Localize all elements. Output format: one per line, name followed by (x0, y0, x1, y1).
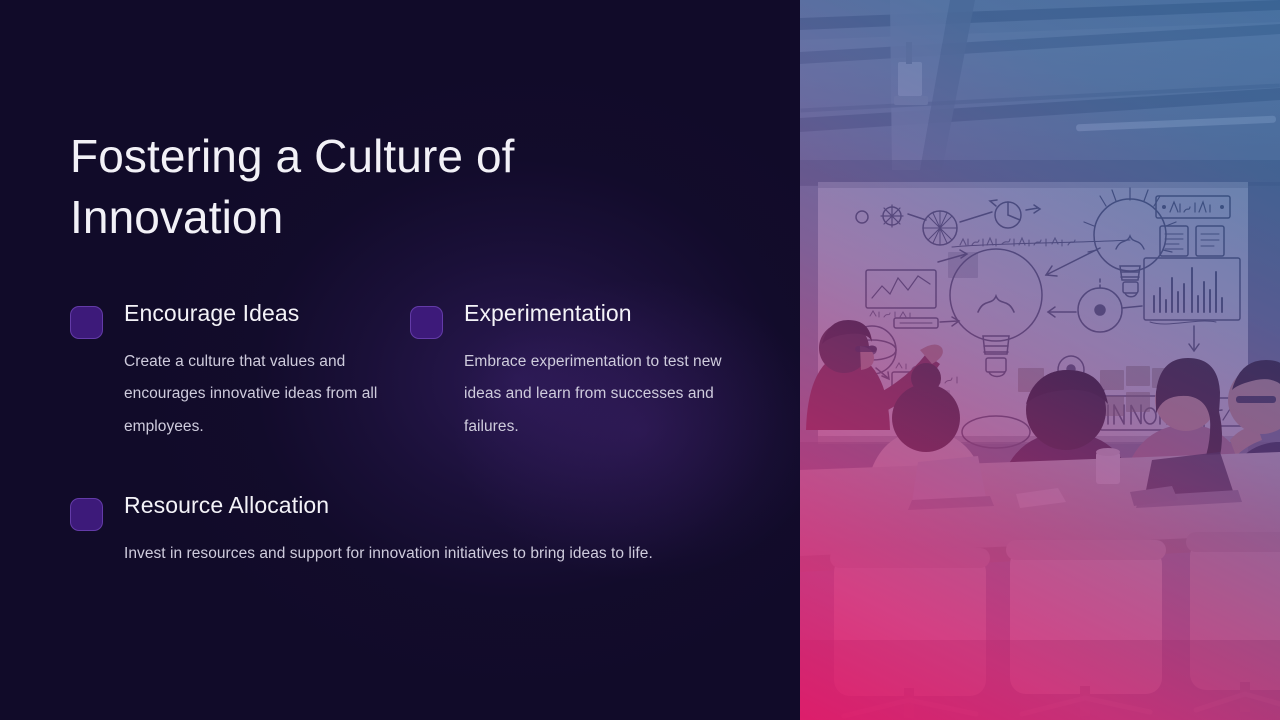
feature-description: Invest in resources and support for inno… (124, 538, 750, 571)
feature-title: Encourage Ideas (124, 300, 410, 328)
feature-title: Resource Allocation (124, 492, 750, 520)
content-panel: Fostering a Culture of Innovation Encour… (0, 0, 800, 720)
rounded-square-icon (70, 498, 103, 531)
feature-description: Create a culture that values and encoura… (124, 346, 410, 445)
feature-item-resource-allocation[interactable]: Resource Allocation Invest in resources … (70, 492, 750, 570)
feature-list: Encourage Ideas Create a culture that va… (70, 300, 750, 571)
feature-item-experimentation[interactable]: Experimentation Embrace experimentation … (410, 300, 750, 444)
feature-row-bottom: Resource Allocation Invest in resources … (70, 492, 750, 570)
feature-title: Experimentation (464, 300, 750, 328)
rounded-square-icon (70, 306, 103, 339)
presentation-slide: Fostering a Culture of Innovation Encour… (0, 0, 1280, 720)
feature-item-encourage-ideas[interactable]: Encourage Ideas Create a culture that va… (70, 300, 410, 444)
page-title: Fostering a Culture of Innovation (70, 126, 690, 248)
photo-panel (800, 0, 1280, 720)
feature-description: Embrace experimentation to test new idea… (464, 346, 750, 445)
feature-row-top: Encourage Ideas Create a culture that va… (70, 300, 750, 444)
photo-gradient-overlay (800, 0, 1280, 720)
rounded-square-icon (410, 306, 443, 339)
